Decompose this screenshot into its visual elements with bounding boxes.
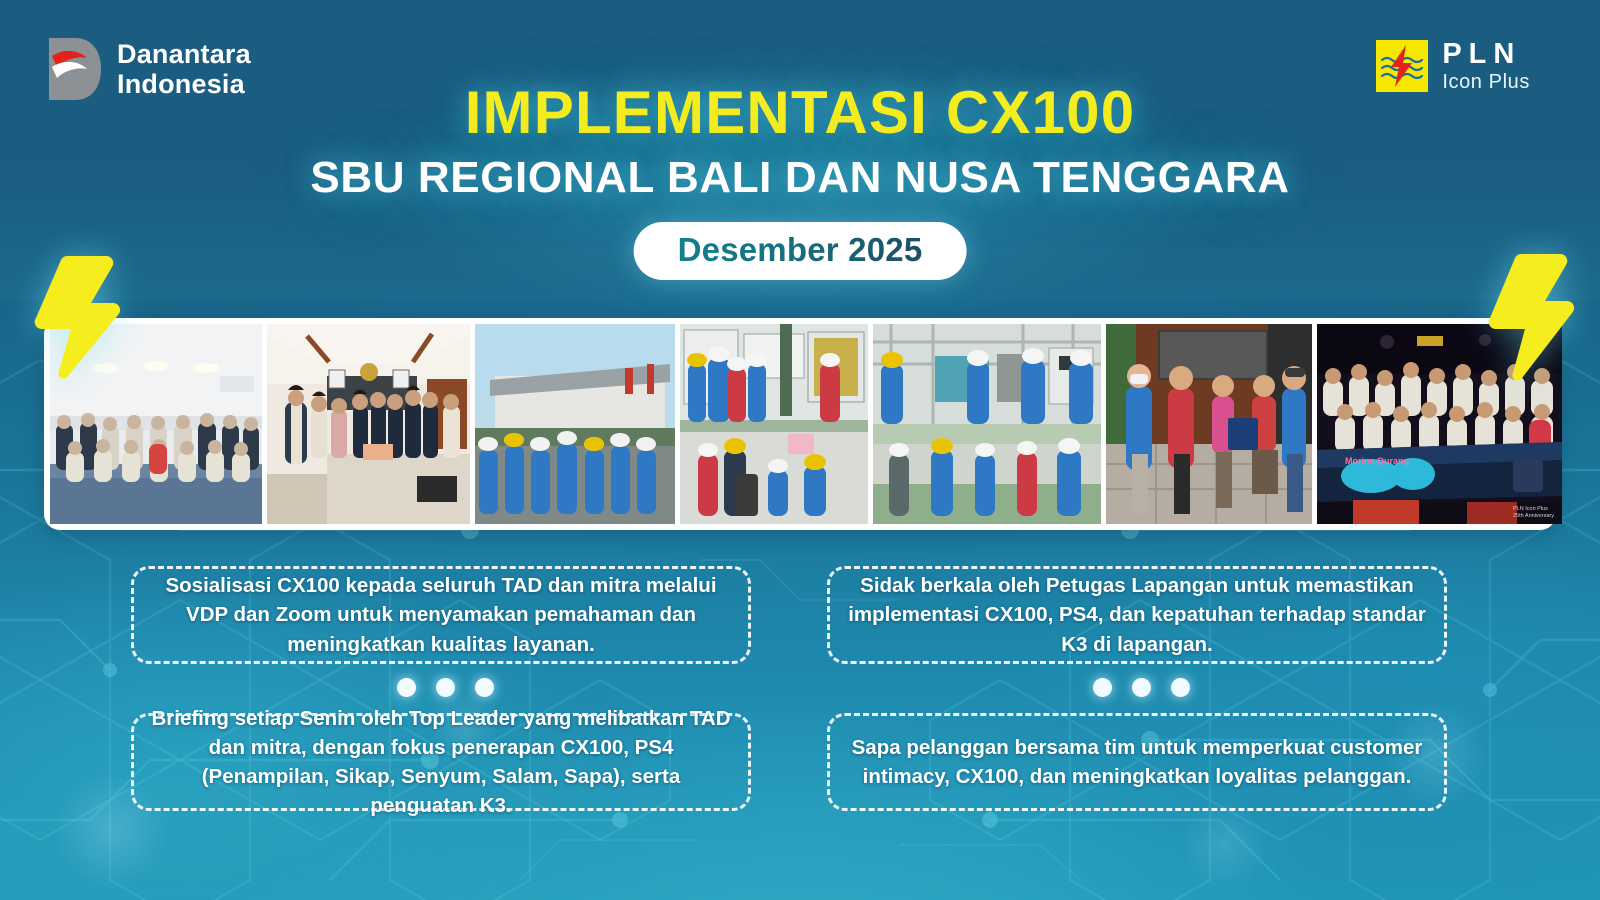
svg-text:PLN Icon Plus: PLN Icon Plus xyxy=(1513,506,1548,512)
infographic-poster: Danantara Indonesia PLN Icon Plus xyxy=(0,0,1600,900)
card-sapa-pelanggan: Sapa pelanggan bersama tim untuk memperk… xyxy=(827,713,1447,811)
gallery-photo-4[interactable] xyxy=(680,324,868,524)
dot-3 xyxy=(1171,678,1190,697)
dot-2 xyxy=(1132,678,1151,697)
dot-2 xyxy=(436,678,455,697)
dot-1 xyxy=(1093,678,1112,697)
card-sosialisasi-text: Sosialisasi CX100 kepada seluruh TAD dan… xyxy=(150,571,732,658)
card-briefing-text: Briefing setiap Senin oleh Top Leader ya… xyxy=(150,704,732,820)
card-sosialisasi: Sosialisasi CX100 kepada seluruh TAD dan… xyxy=(131,566,751,664)
card-sapa-pelanggan-text: Sapa pelanggan bersama tim untuk memperk… xyxy=(846,733,1428,791)
gallery-photo-2[interactable] xyxy=(267,324,470,524)
dot-separator-right xyxy=(1093,678,1190,697)
card-sidak-text: Sidak berkala oleh Petugas Lapangan untu… xyxy=(846,571,1428,658)
photo-gallery-strip: Morina Qurang PLN Icon Plus 25th Anniver… xyxy=(44,318,1556,530)
poster-header: Danantara Indonesia PLN Icon Plus xyxy=(0,0,1600,300)
dot-separator-left xyxy=(397,678,494,697)
svg-text:25th Anniversary: 25th Anniversary xyxy=(1513,513,1554,519)
danantara-line1: Danantara xyxy=(117,39,251,69)
lightning-bolt-icon-right xyxy=(1480,250,1578,382)
dot-3 xyxy=(475,678,494,697)
page-title: IMPLEMENTASI CX100 xyxy=(0,78,1600,147)
gallery-photo-5[interactable] xyxy=(873,324,1101,524)
date-badge-label: Desember 2025 xyxy=(678,231,923,268)
gallery-photo-3[interactable] xyxy=(475,324,675,524)
lightning-bolt-icon-left xyxy=(26,252,124,380)
page-title-block: IMPLEMENTASI CX100 SBU REGIONAL BALI DAN… xyxy=(0,78,1600,203)
pln-line1: PLN xyxy=(1442,40,1530,69)
card-sidak: Sidak berkala oleh Petugas Lapangan untu… xyxy=(827,566,1447,664)
date-badge: Desember 2025 xyxy=(634,222,967,280)
page-subtitle: SBU REGIONAL BALI DAN NUSA TENGGARA xyxy=(0,153,1600,203)
gallery-photo-6[interactable] xyxy=(1106,324,1312,524)
card-briefing: Briefing setiap Senin oleh Top Leader ya… xyxy=(131,713,751,811)
svg-text:Morina Qurang: Morina Qurang xyxy=(1345,456,1409,466)
dot-1 xyxy=(397,678,416,697)
